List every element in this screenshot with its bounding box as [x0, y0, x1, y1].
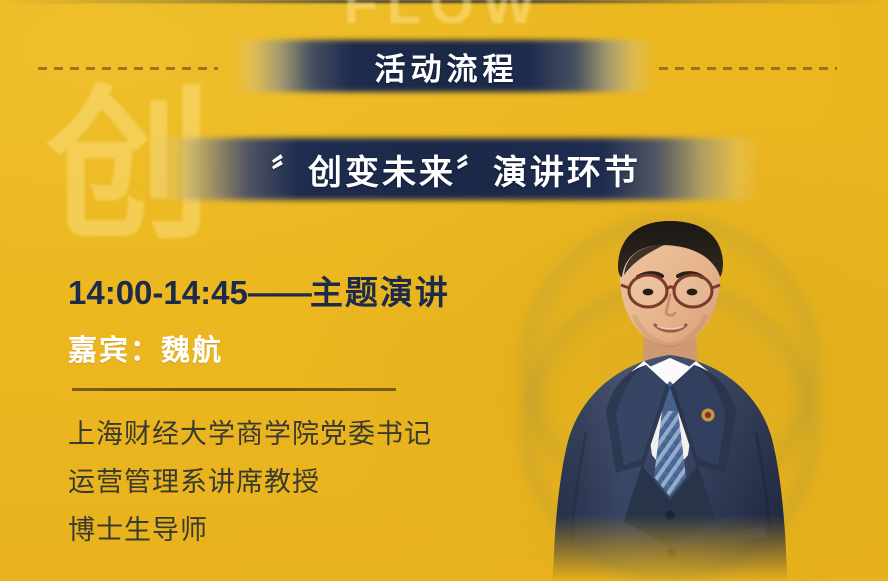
session-dash: ——	[248, 274, 310, 311]
bio-line: 运营管理系讲席教授	[68, 458, 498, 506]
dashed-rule-right	[659, 67, 837, 70]
speaker-portrait	[520, 215, 820, 581]
event-flow-poster: FLOW 创 活动流程 〞创变未来〞演讲环节	[0, 0, 888, 581]
bio-divider	[72, 388, 396, 391]
session-time-row: 14:00-14:45——主题演讲	[68, 266, 450, 314]
flow-wordmark: FLOW	[0, 0, 888, 32]
section-title-text: 活动流程	[370, 44, 519, 89]
guest-label: 嘉宾：	[68, 335, 161, 367]
guest-name: 魏航	[161, 335, 223, 367]
dashed-rule-left	[38, 67, 218, 70]
section-title-banner: 活动流程	[232, 40, 656, 92]
section-subtitle-banner: 〞创变未来〞演讲环节	[150, 138, 762, 200]
speaker-portrait-illustration	[520, 215, 820, 581]
session-time-start: 14:00	[68, 274, 152, 311]
session-topic-label: 主题演讲	[310, 274, 450, 311]
session-time-end: 14:45	[163, 274, 247, 311]
bio-line: 博士生导师	[68, 506, 498, 554]
section-subtitle-text: 〞创变未来〞演讲环节	[271, 145, 641, 194]
bio-line: 上海财经大学商学院党委书记	[68, 410, 498, 458]
session-time-separator: -	[152, 274, 163, 311]
speaker-bio-list: 上海财经大学商学院党委书记 运营管理系讲席教授 博士生导师	[68, 410, 498, 554]
guest-row: 嘉宾：魏航	[68, 327, 223, 369]
